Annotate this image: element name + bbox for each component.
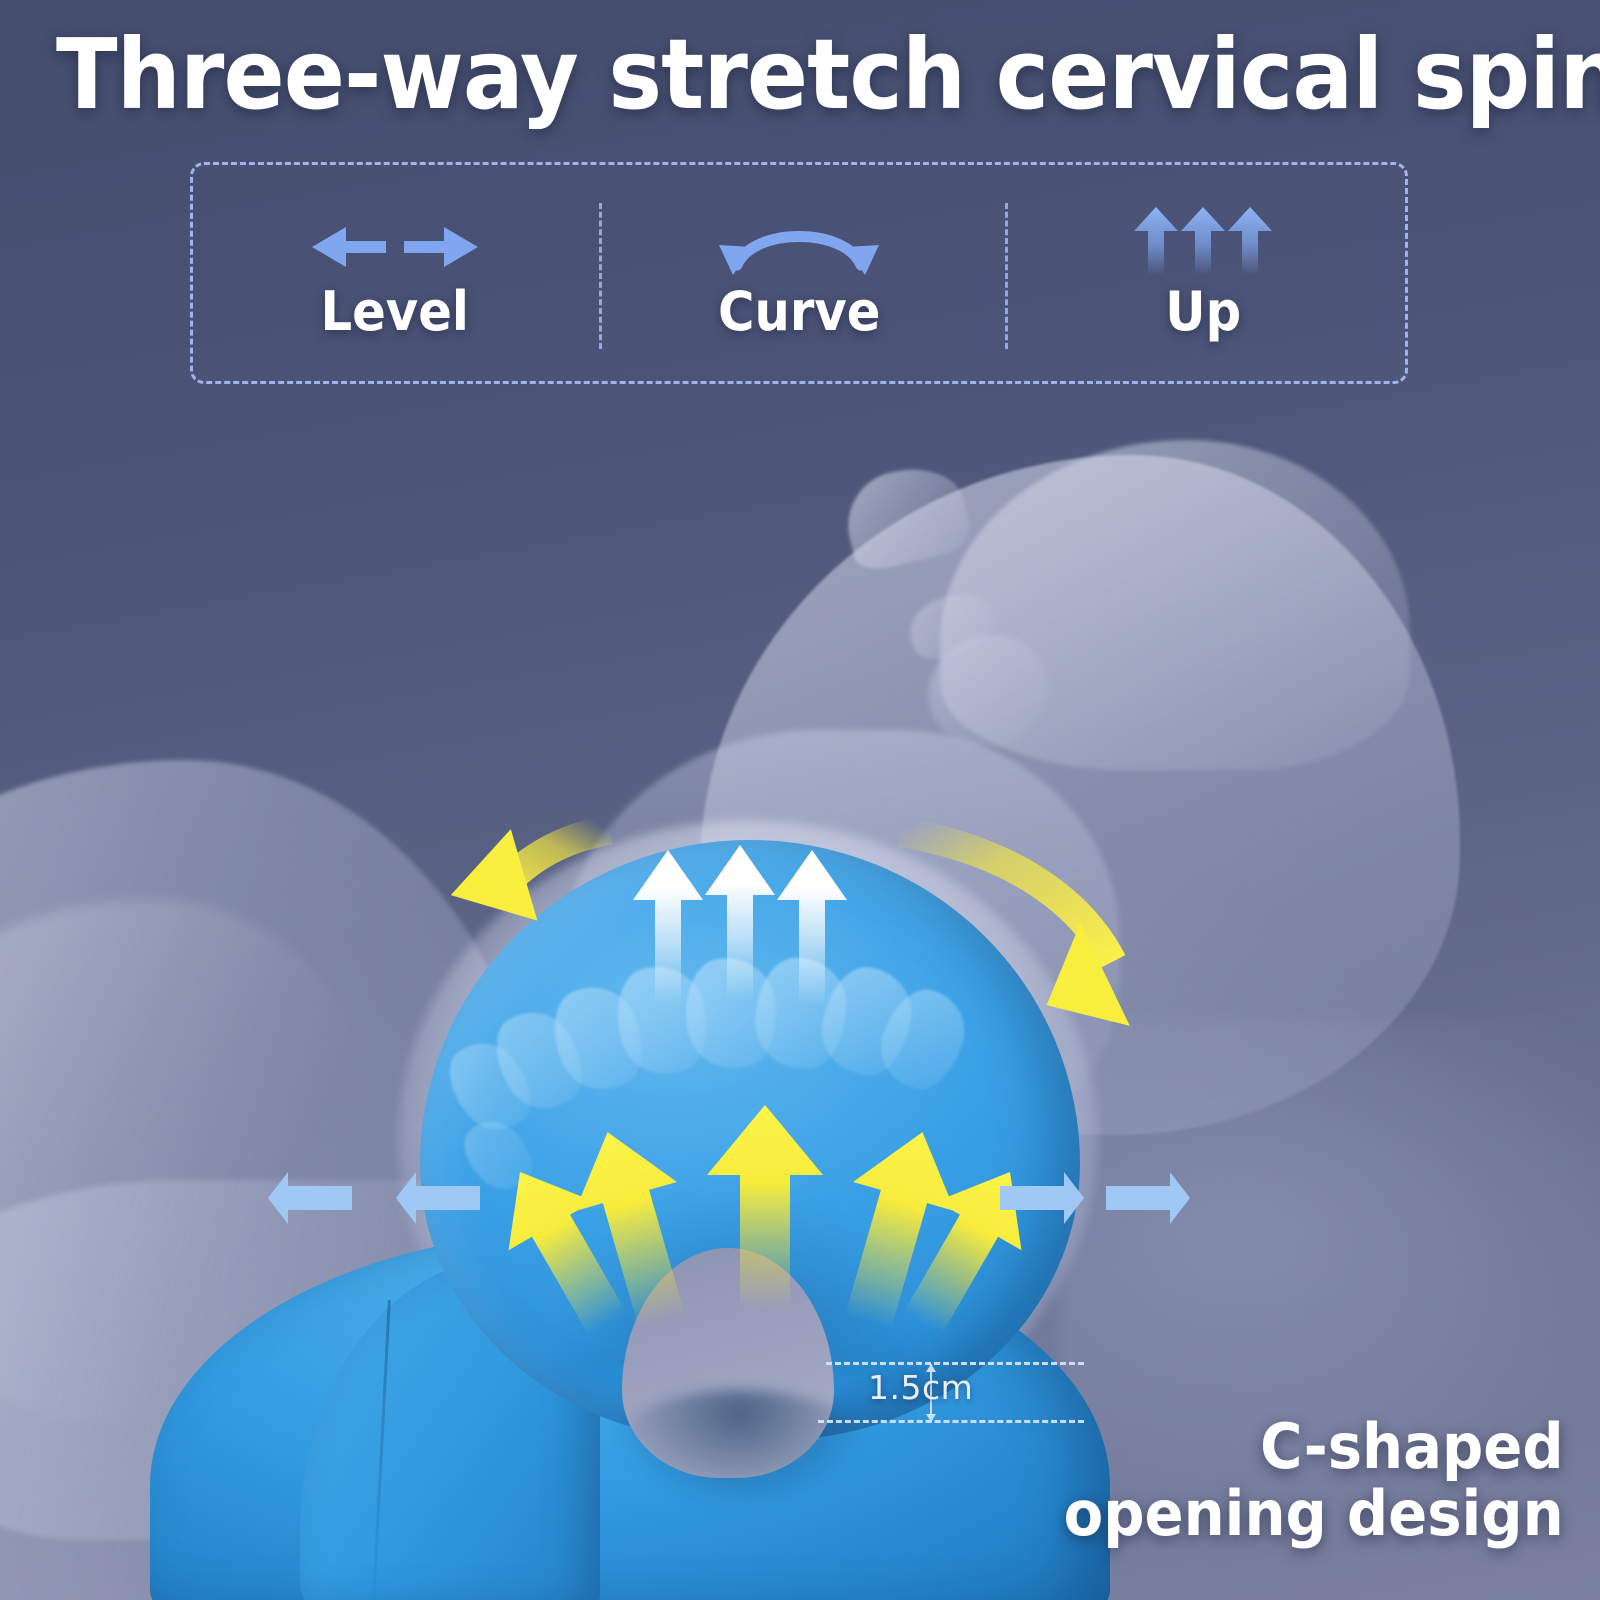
feature-box: Level Curve (190, 162, 1408, 384)
feature-item-curve[interactable]: Curve (597, 165, 1001, 381)
feature-item-up[interactable]: Up (1001, 165, 1405, 381)
double-horizontal-arrow-icon (300, 207, 490, 279)
measurement-line-top (826, 1362, 1084, 1365)
triple-up-arrow-icon (1118, 207, 1288, 279)
feature-item-level[interactable]: Level (193, 165, 597, 381)
opening-shadow (610, 1390, 870, 1510)
caption-c-shaped-opening: C-shaped opening design (1064, 1414, 1564, 1548)
caption-line-1: C-shaped (1064, 1414, 1564, 1481)
arc-double-arrow-icon (709, 207, 889, 279)
infographic-canvas: 1.5cm Three-way stretch cervical spine L… (0, 0, 1600, 1600)
feature-label-up: Up (1165, 285, 1241, 339)
measurement-line-bottom (818, 1420, 1084, 1423)
measurement-value: 1.5cm (868, 1368, 973, 1407)
feature-label-curve: Curve (718, 285, 880, 339)
caption-line-2: opening design (1064, 1481, 1564, 1548)
page-title: Three-way stretch cervical spine (56, 18, 1544, 131)
feature-label-level: Level (321, 285, 469, 339)
